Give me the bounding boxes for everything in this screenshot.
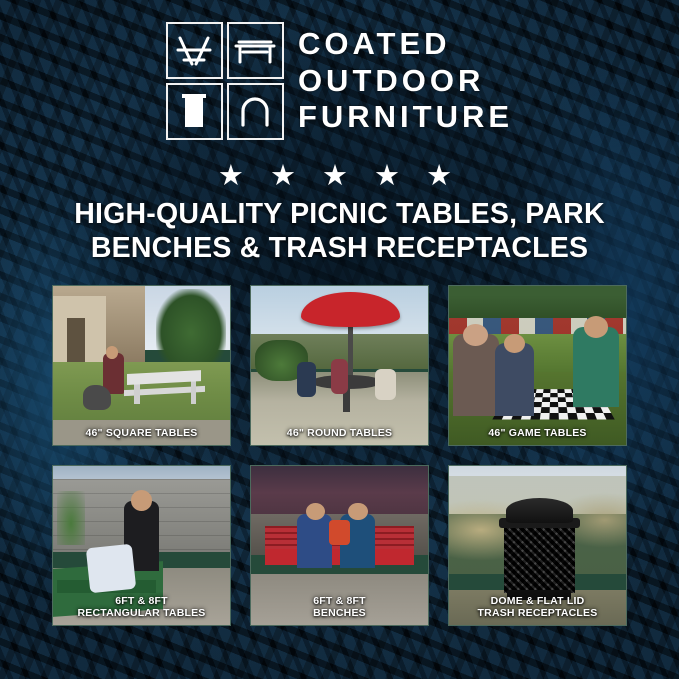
trash-receptacle-icon xyxy=(166,83,223,140)
product-tile-game-tables[interactable]: 46" GAME TABLES xyxy=(448,285,627,446)
brand-wordmark: COATED OUTDOOR FURNITURE xyxy=(298,27,513,135)
star-rating: ★ ★ ★ ★ ★ xyxy=(0,158,679,193)
headline-line-1: HIGH-QUALITY PICNIC TABLES, PARK xyxy=(30,198,649,232)
product-caption: 46" ROUND TABLES xyxy=(251,423,428,445)
caption-line: RECTANGULAR TABLES xyxy=(56,607,227,619)
arch-bench-icon xyxy=(227,83,284,140)
banner-content: COATED OUTDOOR FURNITURE ★ ★ ★ ★ ★ HIGH-… xyxy=(0,0,679,679)
caption-line: 46" ROUND TABLES xyxy=(254,427,425,439)
photo-round-tables xyxy=(251,286,428,445)
caption-line: BENCHES xyxy=(254,607,425,619)
product-tile-square-tables[interactable]: 46" SQUARE TABLES xyxy=(52,285,231,446)
product-caption: 6FT & 8FT RECTANGULAR TABLES xyxy=(53,591,230,625)
product-caption: 6FT & 8FT BENCHES xyxy=(251,591,428,625)
caption-line: 46" GAME TABLES xyxy=(452,427,623,439)
product-tile-round-tables[interactable]: 46" ROUND TABLES xyxy=(250,285,429,446)
picnic-table-icon xyxy=(166,22,223,79)
caption-line: 6FT & 8FT xyxy=(56,595,227,607)
product-caption: 46" SQUARE TABLES xyxy=(53,423,230,445)
product-tile-trash-receptacles[interactable]: DOME & FLAT LID TRASH RECEPTACLES xyxy=(448,465,627,626)
caption-line: 46" SQUARE TABLES xyxy=(56,427,227,439)
caption-line: 6FT & 8FT xyxy=(254,595,425,607)
photo-square-tables xyxy=(53,286,230,445)
caption-line: DOME & FLAT LID xyxy=(452,595,623,607)
product-grid: 46" SQUARE TABLES xyxy=(52,285,627,626)
product-tile-rectangular-tables[interactable]: 6FT & 8FT RECTANGULAR TABLES xyxy=(52,465,231,626)
brand-logo-row: COATED OUTDOOR FURNITURE xyxy=(0,22,679,140)
product-caption: DOME & FLAT LID TRASH RECEPTACLES xyxy=(449,591,626,625)
page-title: HIGH-QUALITY PICNIC TABLES, PARK BENCHES… xyxy=(30,198,649,265)
caption-line: TRASH RECEPTACLES xyxy=(452,607,623,619)
product-tile-benches[interactable]: 6FT & 8FT BENCHES xyxy=(250,465,429,626)
headline-line-2: BENCHES & TRASH RECEPTACLES xyxy=(30,232,649,266)
product-banner-image: COATED OUTDOOR FURNITURE ★ ★ ★ ★ ★ HIGH-… xyxy=(0,0,679,679)
product-caption: 46" GAME TABLES xyxy=(449,423,626,445)
brand-line-2: OUTDOOR xyxy=(298,64,513,99)
brand-line-3: FURNITURE xyxy=(298,100,513,135)
photo-game-tables xyxy=(449,286,626,445)
brand-line-1: COATED xyxy=(298,27,513,62)
bench-icon xyxy=(227,22,284,79)
logo-icon-grid xyxy=(166,22,284,140)
